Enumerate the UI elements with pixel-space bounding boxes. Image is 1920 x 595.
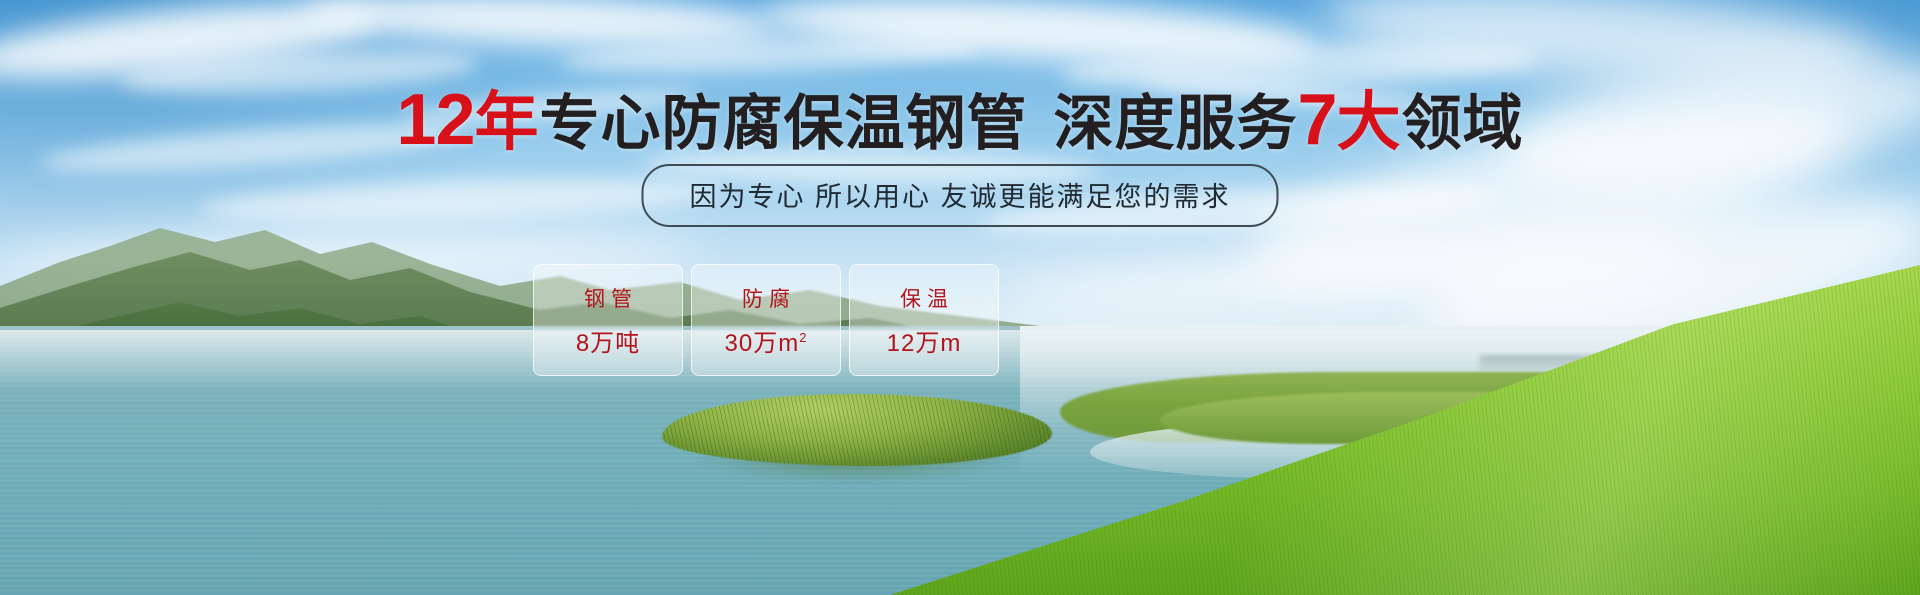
stat-card-steel-pipe[interactable]: 钢管 8万吨 [533,264,683,376]
headline-fields-number: 7 [1298,80,1337,160]
grass-island [650,388,1060,474]
page-title: 12年专心防腐保温钢管深度服务7大领域 [0,84,1920,156]
hero-banner: 12年专心防腐保温钢管深度服务7大领域 因为专心 所以用心 友诚更能满足您的需求… [0,0,1920,595]
headline-main-text: 专心防腐保温钢管 [540,90,1028,157]
stat-card-value: 8万吨 [576,323,640,358]
stat-card-title: 保温 [894,283,954,313]
headline-service-text: 深度服务 [1054,90,1298,157]
headline-fields-text: 领域 [1402,90,1524,157]
island-grass-texture [662,394,1052,466]
stat-card-title: 防腐 [736,283,796,313]
stat-card-value-superscript: 2 [799,330,807,345]
stat-card-title: 钢管 [578,283,638,313]
stat-card-list: 钢管 8万吨 防腐 30万m2 保温 12万m [533,264,999,376]
stat-card-value-text: 12万m [887,330,962,357]
stat-card-insulation[interactable]: 保温 12万m [849,264,999,376]
stat-card-value-text: 8万吨 [576,330,640,357]
stat-card-value: 30万m2 [725,323,808,358]
headline-years-number: 12 [396,80,474,160]
subtitle-pill: 因为专心 所以用心 友诚更能满足您的需求 [641,164,1278,227]
headline-fields-unit: 大 [1337,86,1402,158]
headline-years-unit: 年 [475,86,540,158]
stat-card-anticorrosion[interactable]: 防腐 30万m2 [691,264,841,376]
stat-card-value: 12万m [887,323,962,358]
stat-card-value-text: 30万m [725,330,800,357]
